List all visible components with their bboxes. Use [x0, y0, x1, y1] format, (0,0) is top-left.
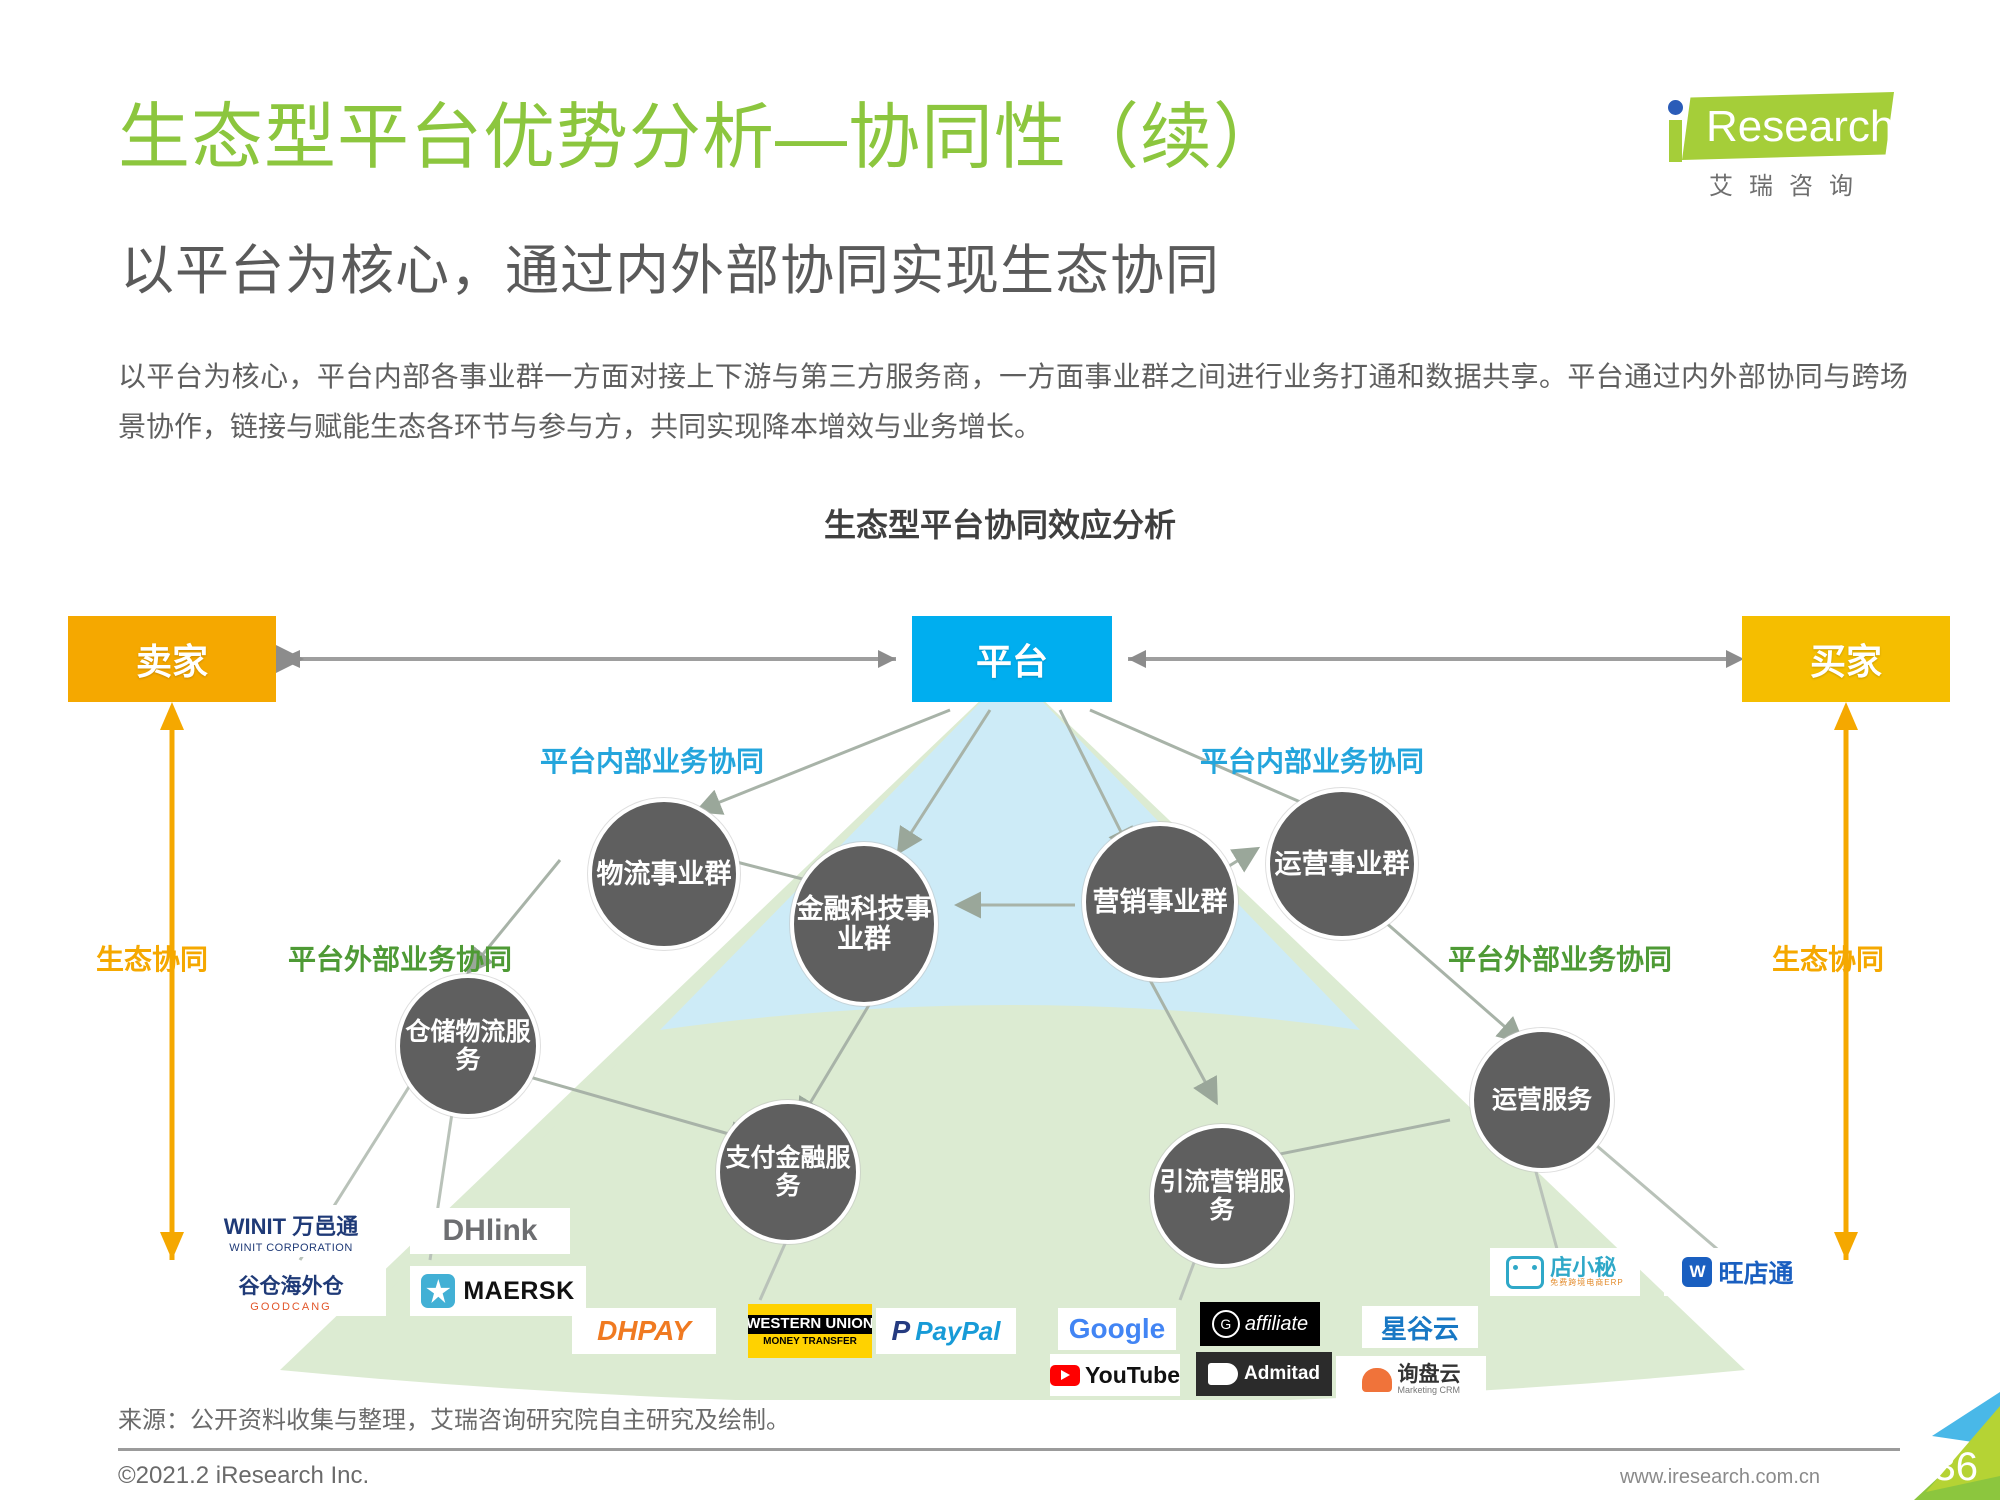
circle-warehouse-svc[interactable]: 仓储物流服务 [396, 974, 540, 1118]
footer-divider [118, 1448, 1900, 1451]
xunpanyun-mark-icon [1362, 1368, 1392, 1392]
wangdiantong-mark-icon: W [1682, 1257, 1712, 1287]
label-eco-right: 生态协同 [1772, 938, 1884, 978]
paypal-p-icon: P [892, 1315, 911, 1347]
slide-root: 生态型平台优势分析—协同性（续） 以平台为核心，通过内外部协同实现生态协同 以平… [0, 0, 2000, 1500]
logo-chinese-name: 艾瑞咨询 [1682, 166, 1896, 201]
label-eco-left: 生态协同 [96, 938, 208, 978]
logo-admitad: Admitad [1196, 1352, 1332, 1396]
circle-logistics-bu[interactable]: 物流事业群 [588, 798, 740, 950]
node-seller[interactable]: 卖家 [68, 616, 276, 702]
logo-wangdiantong: W 旺店通 [1664, 1248, 1812, 1296]
page-title: 生态型平台优势分析—协同性（续） [118, 96, 1286, 180]
label-inner-right: 平台内部业务协同 [1200, 740, 1424, 780]
logo-xunpanyun: 询盘云 Marketing CRM [1336, 1356, 1486, 1404]
circle-traffic-svc[interactable]: 引流营销服务 [1150, 1124, 1294, 1268]
logo-affiliate: G affiliate [1200, 1302, 1320, 1346]
logo-winit: WINIT 万邑通 WINIT CORPORATION [196, 1205, 386, 1257]
affiliate-circle-icon: G [1212, 1310, 1240, 1338]
logo-maersk: MAERSK [410, 1266, 586, 1316]
page-corner-decoration: 36 [1870, 1392, 2000, 1500]
logo-wordmark: Research [1706, 102, 1894, 152]
label-inner-left: 平台内部业务协同 [540, 740, 764, 780]
logo-westernunion: WESTERN UNION MONEY TRANSFER [748, 1304, 872, 1358]
label-outer-right: 平台外部业务协同 [1448, 938, 1672, 978]
intro-paragraph: 以平台为核心，平台内部各事业群一方面对接上下游与第三方服务商，一方面事业群之间进… [118, 352, 1908, 452]
circle-operation-bu[interactable]: 运营事业群 [1266, 788, 1418, 940]
copyright-text: ©2021.2 iResearch Inc. [118, 1462, 369, 1490]
youtube-play-icon [1050, 1365, 1080, 1386]
logo-i-stem-icon [1669, 120, 1682, 162]
page-number: 36 [1934, 1445, 1979, 1490]
chart-title: 生态型平台协同效应分析 [0, 500, 2000, 546]
node-buyer[interactable]: 买家 [1742, 616, 1950, 702]
label-outer-left: 平台外部业务协同 [288, 938, 512, 978]
circle-marketing-bu[interactable]: 营销事业群 [1082, 822, 1238, 982]
logo-dhpay: DHPAY [572, 1308, 716, 1354]
maersk-star-icon [421, 1274, 455, 1308]
logo-i-dot-icon [1668, 100, 1683, 115]
page-subtitle: 以平台为核心，通过内外部协同实现生态协同 [120, 240, 1220, 302]
logo-paypal: P PayPal [876, 1308, 1016, 1354]
iresearch-logo: Research 艾瑞咨询 [1660, 92, 1900, 212]
ecosystem-diagram: 卖家 平台 买家 平台内部业务协同 平台内部业务协同 平台外部业务协同 平台外部… [0, 560, 2000, 1400]
admitad-mark-icon [1208, 1363, 1238, 1385]
node-platform[interactable]: 平台 [912, 616, 1112, 702]
logo-dhlink: DHlink [410, 1208, 570, 1254]
circle-operation-svc[interactable]: 运营服务 [1470, 1028, 1614, 1172]
logo-google: Google [1058, 1308, 1176, 1350]
logo-youtube: YouTube [1050, 1354, 1180, 1396]
circle-fintech-bu[interactable]: 金融科技事业群 [790, 842, 938, 1006]
circle-payment-svc[interactable]: 支付金融服务 [716, 1100, 860, 1244]
logo-goodcang: 谷仓海外仓 GOODCANG [196, 1266, 386, 1316]
website-url: www.iresearch.com.cn [1620, 1466, 1820, 1489]
dianxiaomi-robot-icon [1506, 1256, 1544, 1289]
source-note: 来源：公开资料收集与整理，艾瑞咨询研究院自主研究及绘制。 [118, 1400, 790, 1435]
logo-xingguyun: 星谷云 [1362, 1306, 1478, 1348]
logo-dianxiaomi: 店小秘 免费跨境电商ERP [1490, 1248, 1640, 1296]
